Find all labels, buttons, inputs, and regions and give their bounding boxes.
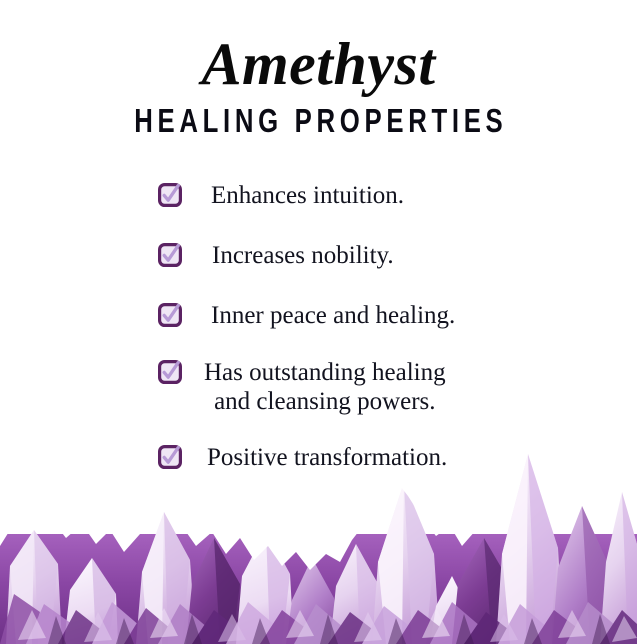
- list-item: Has outstanding healing and cleansing po…: [0, 358, 637, 416]
- list-item: Positive transformation.: [0, 443, 637, 472]
- list-item: Increases nobility.: [0, 241, 637, 270]
- checked-checkbox-icon: [158, 303, 182, 327]
- checked-checkbox-icon: [158, 183, 182, 207]
- list-item-label: Has outstanding healing and cleansing po…: [204, 358, 446, 416]
- page-subtitle: HEALING PROPERTIES: [70, 97, 567, 139]
- list-item-label: Enhances intuition.: [211, 181, 404, 210]
- poster-header: Amethyst HEALING PROPERTIES: [0, 0, 637, 139]
- amethyst-healing-properties-poster: Amethyst HEALING PROPERTIES Enhances int…: [0, 0, 637, 644]
- page-title: Amethyst: [0, 0, 637, 97]
- list-item-label: Increases nobility.: [212, 241, 394, 270]
- checked-checkbox-icon: [158, 360, 182, 384]
- checked-checkbox-icon: [158, 445, 182, 469]
- list-item: Enhances intuition.: [0, 181, 637, 210]
- list-item-label: Positive transformation.: [207, 443, 447, 472]
- healing-properties-list: Enhances intuition. Increases nobility.: [0, 181, 637, 472]
- checked-checkbox-icon: [158, 243, 182, 267]
- list-item: Inner peace and healing.: [0, 301, 637, 330]
- list-item-label: Inner peace and healing.: [211, 301, 455, 330]
